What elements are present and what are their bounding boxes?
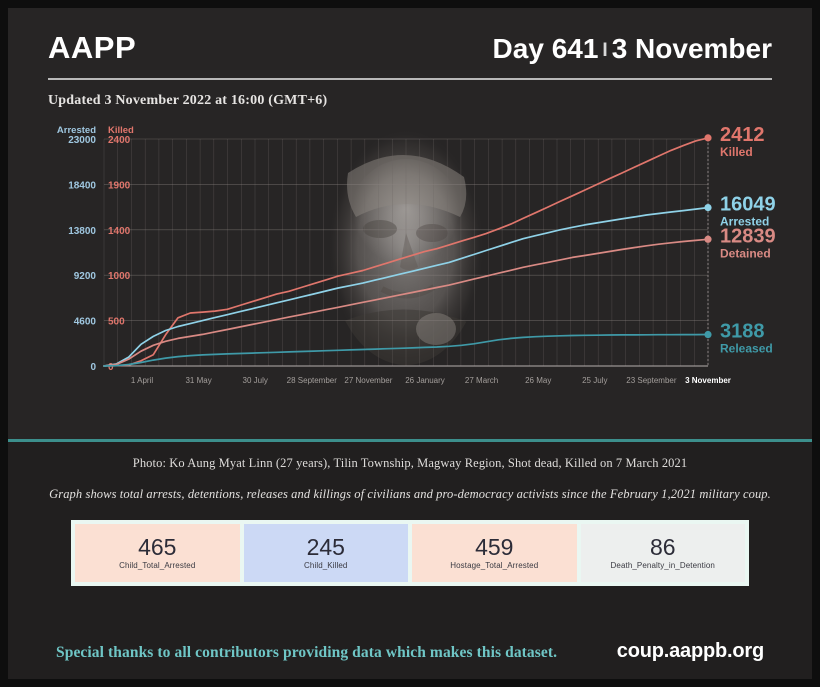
x-tick-label: 1 April	[131, 376, 153, 385]
y-tick-killed: 500	[108, 317, 125, 328]
stat-label: Child_Killed	[304, 561, 347, 570]
y-tick-killed: 2400	[108, 135, 131, 146]
x-tick-label: 26 January	[405, 376, 445, 385]
chart-endpoint-marker-released	[704, 331, 711, 338]
y-tick-arrested: 23000	[68, 135, 96, 146]
day-count-label: Day 641	[493, 33, 599, 64]
thanks-text: Special thanks to all contributors provi…	[56, 644, 557, 662]
timeseries-chart: ArrestedKilled23000240018400190013800140…	[8, 121, 812, 421]
y-tick-killed: 0	[108, 362, 114, 373]
y-tick-arrested: 9200	[74, 271, 97, 282]
y-tick-arrested: 18400	[68, 180, 96, 191]
brand-title: AAPP	[48, 30, 136, 66]
updated-timestamp: Updated 3 November 2022 at 16:00 (GMT+6)	[48, 93, 772, 109]
y-tick-killed: 1400	[108, 226, 131, 237]
endpoint-label-released: Released	[720, 342, 773, 356]
page-title: Day 641I3 November	[493, 33, 772, 65]
x-tick-label: 25 July	[582, 376, 607, 385]
stat-value: 459	[475, 536, 513, 559]
x-tick-label: 27 November	[344, 376, 392, 385]
endpoint-value-killed: 2412	[720, 124, 765, 146]
x-tick-label: 23 September	[626, 376, 677, 385]
photo-credit: Photo: Ko Aung Myat Linn (27 years), Til…	[38, 456, 782, 471]
chart-container: ArrestedKilled23000240018400190013800140…	[8, 121, 812, 433]
y-tick-killed: 1900	[108, 180, 131, 191]
date-label: 3 November	[612, 33, 772, 64]
lower-section: Photo: Ko Aung Myat Linn (27 years), Til…	[8, 442, 812, 679]
header-row: AAPP Day 641I3 November	[48, 30, 772, 66]
x-tick-label: 30 July	[243, 376, 268, 385]
stat-card-hostage_total_arrested: 459Hostage_Total_Arrested	[412, 524, 577, 582]
header: AAPP Day 641I3 November Updated 3 Novemb…	[8, 8, 812, 109]
stat-value: 245	[307, 536, 345, 559]
graph-description: Graph shows total arrests, detentions, r…	[38, 487, 782, 502]
y-tick-arrested: 13800	[68, 226, 96, 237]
x-tick-label: 26 May	[525, 376, 551, 385]
stat-label: Death_Penalty_in_Detention	[611, 561, 715, 570]
header-divider	[48, 78, 772, 80]
chart-endpoint-marker-arrested	[704, 204, 711, 211]
endpoint-value-arrested: 16049	[720, 194, 776, 216]
stats-strip: 465Child_Total_Arrested245Child_Killed45…	[71, 520, 749, 586]
x-tick-label: 28 September	[287, 376, 338, 385]
stat-card-child_killed: 245Child_Killed	[244, 524, 409, 582]
x-tick-label: 31 May	[185, 376, 211, 385]
endpoint-value-detained: 12839	[720, 225, 776, 247]
chart-endpoint-marker-killed	[704, 134, 711, 141]
infographic-poster: AAPP Day 641I3 November Updated 3 Novemb…	[8, 8, 812, 679]
stat-label: Child_Total_Arrested	[119, 561, 195, 570]
website-link[interactable]: coup.aappb.org	[617, 640, 764, 663]
endpoint-label-detained: Detained	[720, 246, 771, 260]
endpoint-label-killed: Killed	[720, 145, 753, 159]
endpoint-value-released: 3188	[720, 321, 765, 343]
stat-value: 86	[650, 536, 676, 559]
bottom-bar: Special thanks to all contributors provi…	[38, 640, 782, 679]
stat-value: 465	[138, 536, 176, 559]
x-tick-label: 27 March	[465, 376, 498, 385]
x-tick-label-current: 3 November	[685, 376, 731, 385]
stat-card-child_total_arrested: 465Child_Total_Arrested	[75, 524, 240, 582]
stat-label: Hostage_Total_Arrested	[450, 561, 538, 570]
y-tick-killed: 1000	[108, 271, 131, 282]
chart-endpoint-marker-detained	[704, 236, 711, 243]
y-tick-arrested: 0	[90, 362, 96, 373]
stat-card-death_penalty_in_detention: 86Death_Penalty_in_Detention	[581, 524, 746, 582]
y-tick-arrested: 4600	[74, 317, 97, 328]
title-separator: I	[598, 40, 611, 61]
